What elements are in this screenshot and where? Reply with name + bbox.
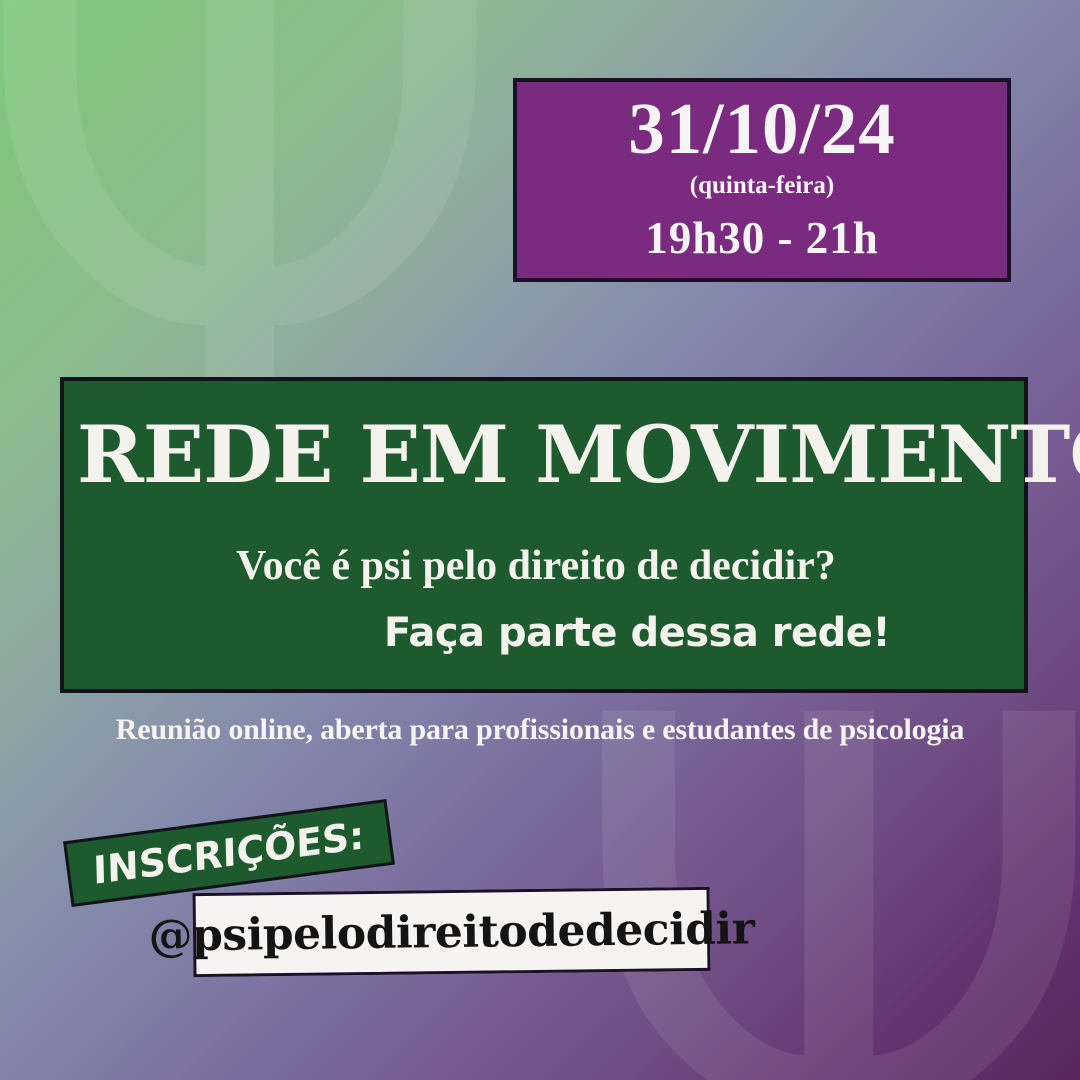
- poster-canvas: Ψ Ψ 31/10/24 (quinta-feira) 19h30 - 21h …: [0, 0, 1080, 1080]
- registration-label: INSCRIÇÕES:: [93, 813, 365, 893]
- headline-cta: Faça parte dessa rede!: [86, 610, 1002, 656]
- registration-handle-box[interactable]: @psipelodireitodedecidir: [193, 887, 711, 977]
- headline-question: Você é psi pelo direito de decidir?: [86, 542, 1002, 590]
- headline-box: REDE EM MOVIMENTO Você é psi pelo direit…: [60, 377, 1028, 693]
- event-date: 31/10/24: [628, 92, 896, 166]
- event-time: 19h30 - 21h: [645, 212, 879, 264]
- instagram-handle: @psipelodireitodedecidir: [148, 903, 754, 961]
- psi-watermark-icon: Ψ: [563, 630, 1080, 1080]
- date-box: 31/10/24 (quinta-feira) 19h30 - 21h: [513, 78, 1011, 282]
- page-title: REDE EM MOVIMENTO: [77, 415, 1011, 494]
- event-subtitle: Reunião online, aberta para profissionai…: [0, 713, 1080, 747]
- event-weekday: (quinta-feira): [690, 172, 834, 200]
